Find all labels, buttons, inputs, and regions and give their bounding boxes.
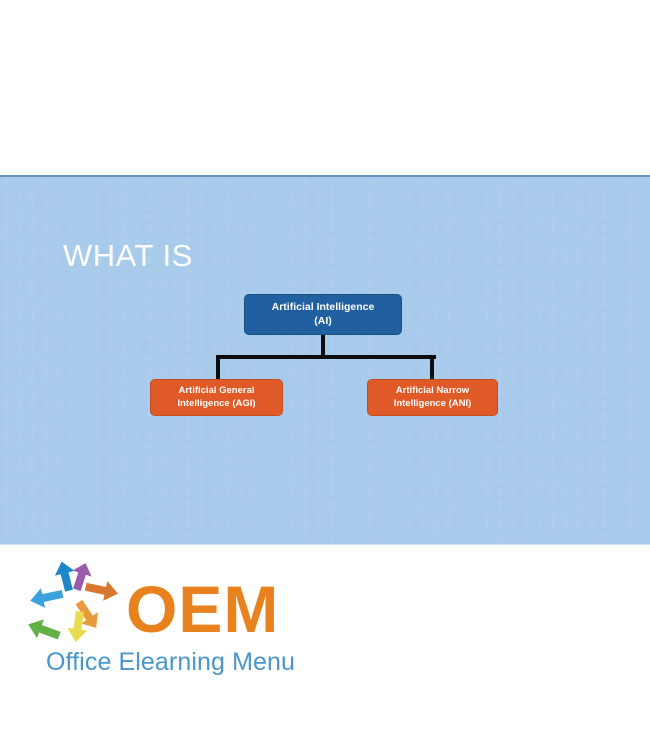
binary-column: 0 0 0 0 1 0 0 1 0 1 1 0 0 0 1 0 1 0 1 0 … xyxy=(392,175,401,545)
binary-column: 0 1 0 0 1 0 0 1 0 0 1 1 0 1 0 0 1 1 0 0 … xyxy=(561,175,570,545)
binary-column: 1 1 0 1 0 1 0 1 0 1 0 0 1 1 0 0 0 0 0 0 … xyxy=(639,175,648,545)
binary-column: 1 1 1 1 1 1 0 0 0 0 0 1 0 0 1 0 1 0 1 0 … xyxy=(327,175,336,545)
binary-column: 0 1 0 1 0 0 1 1 0 0 1 1 0 1 1 1 0 0 0 1 … xyxy=(15,175,24,545)
binary-column: 0 0 1 1 0 0 1 0 0 0 0 1 1 0 1 0 1 0 0 0 … xyxy=(145,175,154,545)
binary-texture: 1 0 1 1 1 1 1 0 1 1 0 1 1 0 0 0 1 0 0 0 … xyxy=(0,177,650,544)
binary-column: 0 1 1 0 1 0 0 0 0 0 1 1 1 1 1 1 1 1 0 1 … xyxy=(54,175,63,545)
arrow-green-downleft-icon xyxy=(26,615,63,645)
node-ani-line1: Artificial Narrow xyxy=(396,385,469,396)
binary-column: 0 1 0 1 1 1 1 1 1 1 0 0 0 0 0 1 0 1 0 1 … xyxy=(314,175,323,545)
binary-column: 1 0 0 1 0 1 0 1 0 1 0 0 1 1 0 0 0 1 1 1 … xyxy=(236,175,245,545)
arrow-lightblue-left-icon xyxy=(28,584,64,610)
binary-column: 0 0 1 0 0 0 0 1 1 0 1 0 1 1 0 0 0 1 0 1 … xyxy=(41,175,50,545)
logo-wordmark: OEM xyxy=(126,576,279,642)
node-agi-line1: Artificial General xyxy=(178,385,254,396)
binary-column: 0 0 0 0 0 0 0 1 1 0 1 0 0 1 1 0 1 1 0 0 … xyxy=(210,175,219,545)
binary-column: 0 0 1 1 1 1 1 1 0 0 1 0 1 0 0 0 0 1 0 1 … xyxy=(548,175,557,545)
binary-column: 1 0 0 1 0 1 0 1 1 1 1 0 0 1 1 0 1 1 1 0 … xyxy=(509,175,518,545)
page-title: WHAT IS xyxy=(63,238,193,274)
binary-column: 1 0 1 0 0 0 1 1 0 1 1 1 0 0 1 0 0 0 1 1 … xyxy=(223,175,232,545)
binary-column: 1 1 1 0 1 0 0 1 1 1 0 1 0 1 1 1 1 0 0 1 … xyxy=(288,175,297,545)
node-artificial-general-intelligence[interactable]: Artificial General Intelligence (AGI) xyxy=(150,379,283,416)
node-artificial-narrow-intelligence[interactable]: Artificial Narrow Intelligence (ANI) xyxy=(367,379,498,416)
binary-column: 0 0 1 1 1 1 1 0 0 1 0 0 1 1 1 1 1 1 0 0 … xyxy=(574,175,583,545)
node-ai-line1: Artificial Intelligence xyxy=(272,301,375,313)
binary-column: 1 1 1 0 0 1 1 0 1 1 0 0 1 1 1 0 1 1 0 1 … xyxy=(132,175,141,545)
binary-column: 1 0 1 1 1 1 1 0 1 1 0 1 1 0 0 0 1 0 0 0 … xyxy=(2,175,11,545)
binary-column: 1 0 0 0 0 0 0 0 0 0 0 1 0 1 0 1 1 0 1 0 … xyxy=(535,175,544,545)
binary-column: 0 0 1 1 0 1 1 1 1 0 1 0 1 0 0 0 1 0 0 1 … xyxy=(340,175,349,545)
logo-tagline: Office Elearning Menu xyxy=(46,648,295,677)
oem-logo[interactable]: OEM Office Elearning Menu xyxy=(26,558,316,678)
logo-arrows-icon xyxy=(26,558,130,652)
node-ani-label: Artificial Narrow Intelligence (ANI) xyxy=(394,385,472,409)
binary-column: 1 1 0 1 1 0 1 1 0 1 0 0 0 1 1 0 1 0 1 0 … xyxy=(28,175,37,545)
node-ani-line2: Intelligence (ANI) xyxy=(394,398,472,409)
node-ai-line2: (AI) xyxy=(314,315,332,327)
binary-column: 0 1 0 1 1 0 0 1 0 0 1 1 0 0 0 1 1 1 1 1 … xyxy=(158,175,167,545)
binary-column: 1 1 0 1 0 1 1 0 0 0 1 0 1 1 1 1 0 1 1 0 … xyxy=(93,175,102,545)
node-artificial-intelligence[interactable]: Artificial Intelligence (AI) xyxy=(244,294,402,335)
node-agi-label: Artificial General Intelligence (AGI) xyxy=(177,385,255,409)
binary-column: 0 0 1 1 1 1 0 1 0 0 0 0 1 1 1 0 1 0 0 0 … xyxy=(184,175,193,545)
binary-column: 0 0 1 0 0 1 0 1 1 0 1 0 1 1 1 0 0 0 1 1 … xyxy=(106,175,115,545)
binary-column: 0 1 0 1 1 1 1 1 1 1 0 1 0 0 0 0 0 1 0 0 … xyxy=(353,175,362,545)
binary-column: 1 1 0 1 1 1 1 0 0 1 0 1 1 1 1 0 0 1 1 1 … xyxy=(80,175,89,545)
binary-column: 0 0 0 1 1 1 0 0 0 1 1 1 1 0 1 0 1 1 0 1 … xyxy=(379,175,388,545)
node-agi-line2: Intelligence (AGI) xyxy=(177,398,255,409)
binary-column: 0 1 0 1 0 1 0 1 1 1 1 1 0 0 0 1 1 1 1 0 … xyxy=(405,175,414,545)
binary-column: 1 1 0 1 0 1 0 1 0 1 0 1 0 0 0 0 1 0 1 1 … xyxy=(613,175,622,545)
binary-column: 1 1 1 1 0 1 0 1 0 1 1 1 0 0 1 0 1 1 1 1 … xyxy=(600,175,609,545)
binary-column: 1 0 1 1 1 0 0 0 0 1 1 0 0 0 0 1 1 1 0 0 … xyxy=(67,175,76,545)
binary-column: 1 0 0 0 1 1 0 1 0 1 0 1 0 0 0 1 0 0 1 1 … xyxy=(262,175,271,545)
binary-column: 0 0 0 0 1 0 1 0 0 0 1 1 0 1 1 0 1 0 0 1 … xyxy=(522,175,531,545)
arrow-orange-right-icon xyxy=(84,577,120,603)
binary-column: 0 1 1 0 1 0 0 1 1 0 1 0 0 0 0 0 0 0 0 1 … xyxy=(587,175,596,545)
binary-column: 1 0 1 0 0 1 1 1 0 1 0 1 0 0 0 1 1 1 0 0 … xyxy=(171,175,180,545)
binary-column: 0 0 1 1 1 1 0 1 1 1 1 0 0 1 0 0 1 1 0 0 … xyxy=(431,175,440,545)
binary-column: 0 0 1 0 1 0 0 0 0 0 0 0 0 1 0 1 1 0 0 0 … xyxy=(197,175,206,545)
binary-column: 0 1 0 1 1 1 0 0 1 0 1 0 1 0 0 1 1 1 0 1 … xyxy=(249,175,258,545)
binary-column: 0 0 0 1 1 1 0 1 0 1 1 0 1 1 0 0 0 0 0 0 … xyxy=(457,175,466,545)
binary-column: 0 0 1 0 0 0 1 0 1 1 1 1 0 1 1 0 1 1 0 0 … xyxy=(418,175,427,545)
binary-column: 0 0 0 1 0 1 1 0 1 0 1 0 0 0 1 0 0 0 0 0 … xyxy=(626,175,635,545)
binary-column: 1 0 0 1 0 0 1 1 1 1 0 0 1 1 1 1 0 0 1 0 … xyxy=(444,175,453,545)
binary-column: 0 0 0 0 1 0 0 0 1 1 0 1 0 1 0 0 0 0 0 1 … xyxy=(366,175,375,545)
binary-column: 1 1 0 0 0 1 1 1 0 0 0 1 1 0 1 0 0 0 0 1 … xyxy=(496,175,505,545)
binary-column: 0 0 0 0 0 1 0 1 1 1 0 1 1 1 1 1 0 0 1 0 … xyxy=(119,175,128,545)
binary-column: 1 0 0 0 1 1 1 0 1 1 0 0 1 1 0 0 1 0 0 0 … xyxy=(301,175,310,545)
binary-column: 0 0 1 0 1 1 0 1 0 1 1 1 0 0 0 0 1 1 1 0 … xyxy=(470,175,479,545)
node-ai-label: Artificial Intelligence (AI) xyxy=(272,301,375,328)
binary-column: 1 1 1 1 0 1 1 1 0 0 0 0 0 1 0 1 0 0 1 1 … xyxy=(275,175,284,545)
slide-panel: 1 0 1 1 1 1 1 0 1 1 0 1 1 0 0 0 1 0 0 0 … xyxy=(0,175,650,545)
binary-column: 0 1 1 1 0 0 0 1 0 0 1 0 0 1 1 1 0 0 1 0 … xyxy=(483,175,492,545)
